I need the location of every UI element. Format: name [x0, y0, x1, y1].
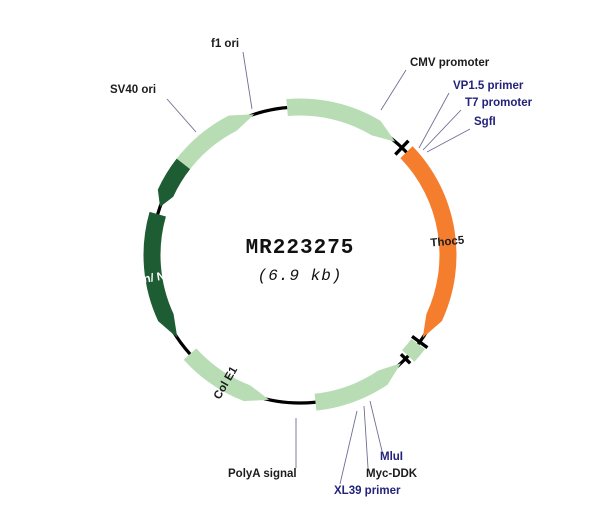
leader-line-cmv-promoter-label	[381, 70, 406, 110]
t7-promoter-label: T7 promoter	[465, 97, 533, 109]
mlui-label: MluI	[380, 451, 403, 463]
leader-line-myc-ddk-label	[364, 406, 368, 468]
polya-signal-label: PolyA signal	[228, 468, 297, 480]
feature-arc-label-thoc5: Thoc5	[430, 235, 465, 250]
sv40-ori-label: SV40 ori	[110, 84, 156, 96]
page-title: MR223275	[246, 237, 355, 260]
f1-ori-label: f1 ori	[211, 38, 239, 50]
feature-arrow-cmv-promoter[interactable]	[286, 99, 395, 142]
plasmid-map-figure: Thoc5Col E1Kan/ Neo SV40 orif1 oriCMV pr…	[0, 0, 600, 512]
plasmid-map-svg: Thoc5Col E1Kan/ Neo SV40 orif1 oriCMV pr…	[0, 0, 600, 512]
leader-line-sv40-ori-label	[167, 99, 196, 132]
leader-line-vp15-primer-label	[419, 93, 449, 148]
leader-line-xl39-primer-label	[340, 411, 357, 484]
feature-arrow-f1-ori[interactable]	[173, 114, 254, 173]
leader-line-mlui-label	[370, 401, 382, 451]
feature-arrow-sv40-ori[interactable]	[158, 159, 190, 207]
sgfi-label: SgfI	[474, 116, 496, 128]
feature-arrow-polya-signal[interactable]	[315, 363, 401, 410]
cmv-promoter-label: CMV promoter	[410, 57, 490, 69]
leader-line-sgfi-label	[427, 129, 470, 152]
plasmid-size-label: (6.9 kb)	[258, 267, 343, 285]
leader-line-f1-ori-label	[243, 52, 252, 109]
myc-ddk-label: Myc-DDK	[366, 468, 418, 480]
xl39-primer-label: XL39 primer	[334, 485, 401, 497]
vp15-primer-label: VP1.5 primer	[453, 80, 524, 92]
